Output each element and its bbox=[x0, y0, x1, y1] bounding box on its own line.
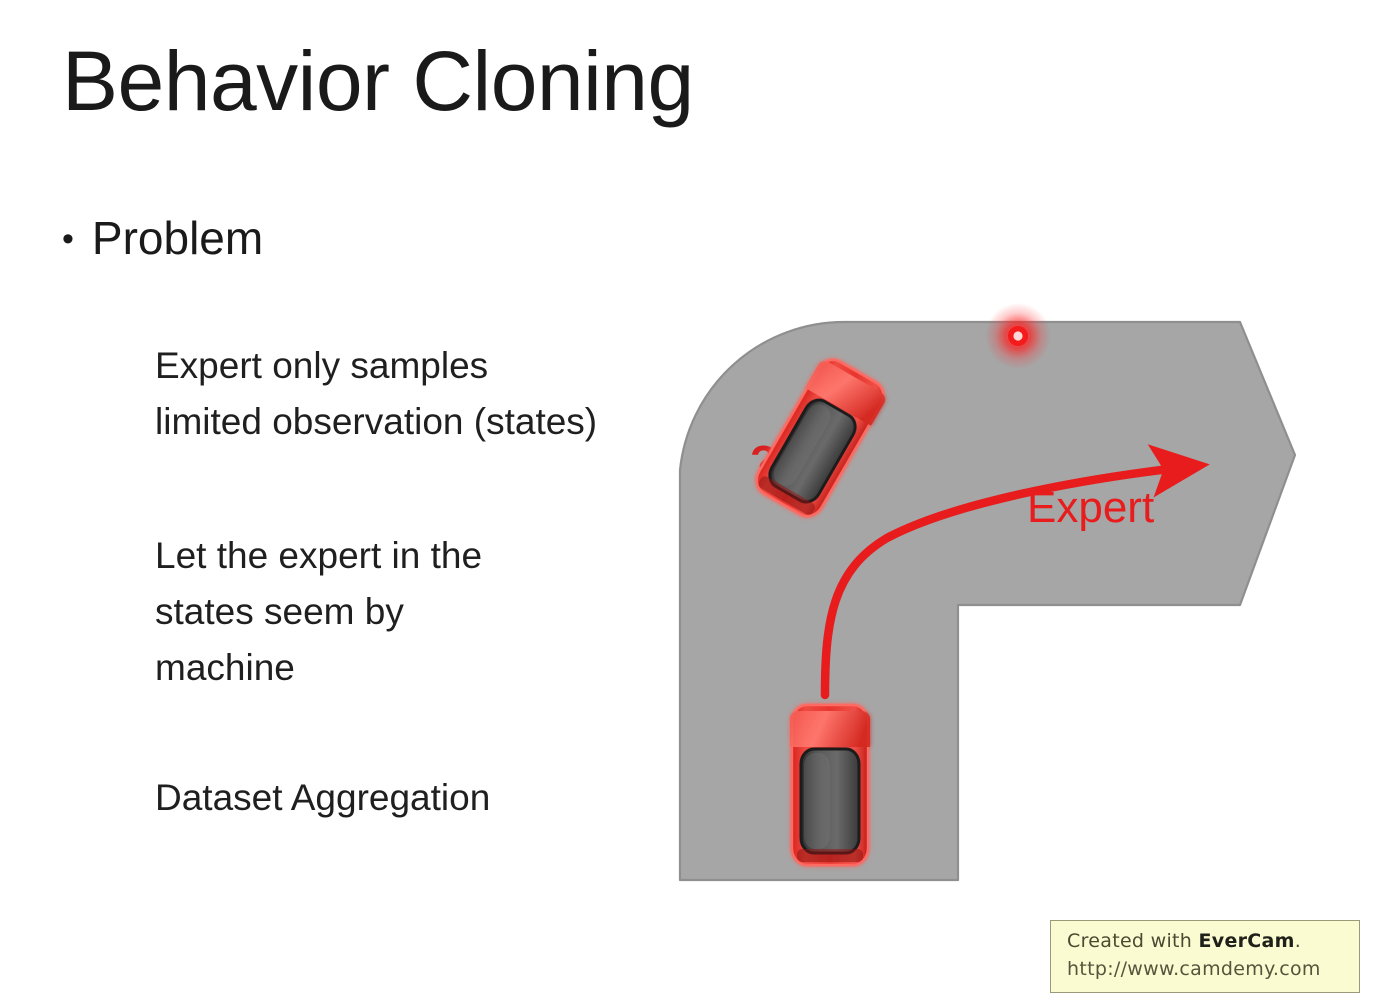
evercam-credit-line: Created with EverCam. bbox=[1067, 928, 1345, 956]
road-diagram: Expert ? bbox=[655, 290, 1315, 910]
bullet-item-problem: • Problem bbox=[62, 215, 263, 261]
evercam-brand: EverCam bbox=[1198, 930, 1294, 952]
evercam-watermark: Created with EverCam. http://www.camdemy… bbox=[1050, 920, 1360, 993]
evercam-url[interactable]: http://www.camdemy.com bbox=[1067, 956, 1345, 984]
bullet-item-label: Problem bbox=[92, 215, 263, 261]
evercam-prefix: Created with bbox=[1067, 930, 1198, 952]
car-approaching bbox=[790, 705, 870, 865]
bullet-dot-icon: • bbox=[62, 222, 74, 256]
sub-point-dataset-aggregation: Dataset Aggregation bbox=[155, 770, 490, 826]
sub-point-let-expert: Let the expert in the states seem by mac… bbox=[155, 528, 482, 697]
page-title: Behavior Cloning bbox=[62, 36, 694, 127]
evercam-suffix: . bbox=[1295, 930, 1301, 952]
sub-point-expert-samples: Expert only samples limited observation … bbox=[155, 338, 597, 450]
expert-label: Expert bbox=[1027, 483, 1154, 532]
beacon-light-icon bbox=[985, 303, 1051, 369]
road-surface bbox=[680, 322, 1295, 880]
slide-canvas: Behavior Cloning • Problem Expert only s… bbox=[0, 0, 1382, 1001]
